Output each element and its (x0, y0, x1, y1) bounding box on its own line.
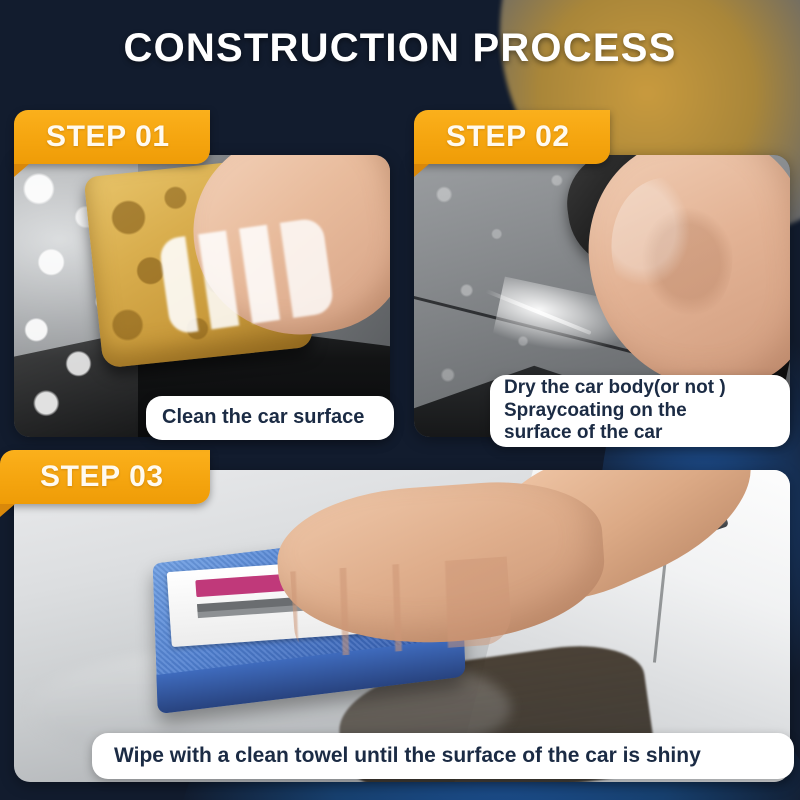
step-02-caption-line-1: Dry the car body(or not ) (504, 377, 776, 399)
fingers (291, 556, 514, 658)
step-01-caption-line: Clean the car surface (162, 406, 378, 430)
step-badge-01: STEP 01 (14, 110, 210, 164)
step-badge-01-label: STEP 01 (46, 120, 170, 154)
step-badge-02-label: STEP 02 (446, 120, 570, 154)
step-card-01 (14, 155, 390, 437)
step-badge-03-label: STEP 03 (40, 460, 164, 494)
title-bar: CONSTRUCTION PROCESS (0, 0, 800, 96)
page-title: CONSTRUCTION PROCESS (124, 26, 677, 71)
step-02-caption-line-3: surface of the car (504, 422, 776, 444)
infographic-page: CONSTRUCTION PROCESS STEP 01 Clean the c… (0, 0, 800, 800)
step-03-caption: Wipe with a clean towel until the surfac… (92, 733, 794, 779)
step-03-caption-line: Wipe with a clean towel until the surfac… (114, 744, 772, 769)
step-badge-02: STEP 02 (414, 110, 610, 164)
step-badge-03: STEP 03 (0, 450, 210, 504)
step-01-caption: Clean the car surface (146, 396, 394, 440)
step-02-caption: Dry the car body(or not ) Spraycoating o… (490, 375, 790, 447)
step-01-photo (14, 155, 390, 437)
step-02-caption-line-2: Spraycoating on the (504, 400, 776, 422)
